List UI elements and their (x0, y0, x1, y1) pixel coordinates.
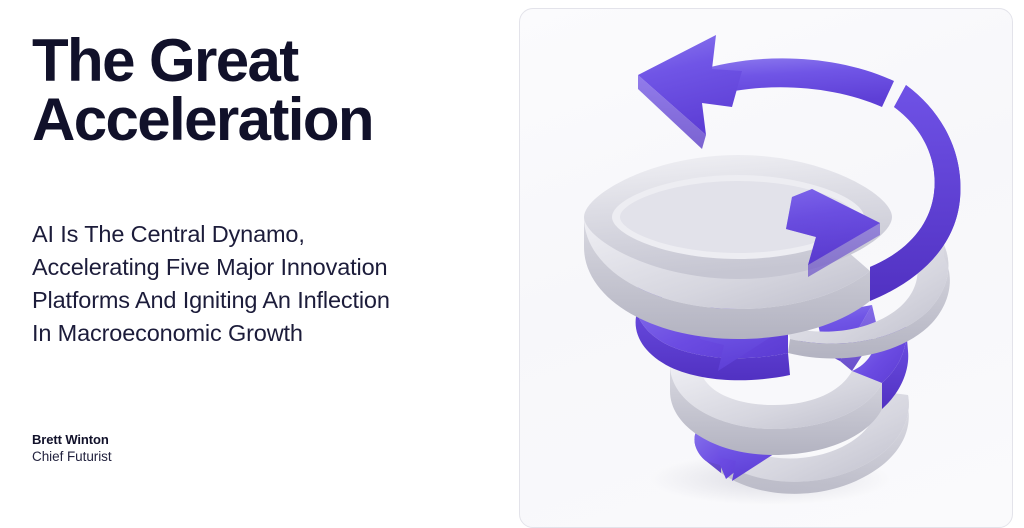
page-subtitle-line-1: AI Is The Central Dynamo, (32, 218, 522, 251)
page-title-line-1: The Great (32, 32, 502, 91)
page-subtitle-line-2: Accelerating Five Major Innovation (32, 251, 522, 284)
page-subtitle: AI Is The Central Dynamo, Accelerating F… (32, 218, 522, 350)
slide-root: The Great Acceleration AI Is The Central… (0, 0, 1024, 523)
ascending-spiral-arrows-icon (520, 9, 1013, 528)
page-subtitle-line-3: Platforms And Igniting An Inflection (32, 284, 522, 317)
text-column: The Great Acceleration AI Is The Central… (32, 0, 502, 523)
author-name: Brett Winton (32, 431, 332, 448)
byline: Brett Winton Chief Futurist (32, 431, 332, 466)
page-title-line-2: Acceleration (32, 91, 502, 150)
illustration-card (519, 8, 1013, 528)
page-title: The Great Acceleration (32, 32, 502, 150)
page-subtitle-line-4: In Macroeconomic Growth (32, 317, 522, 350)
author-role: Chief Futurist (32, 448, 332, 466)
